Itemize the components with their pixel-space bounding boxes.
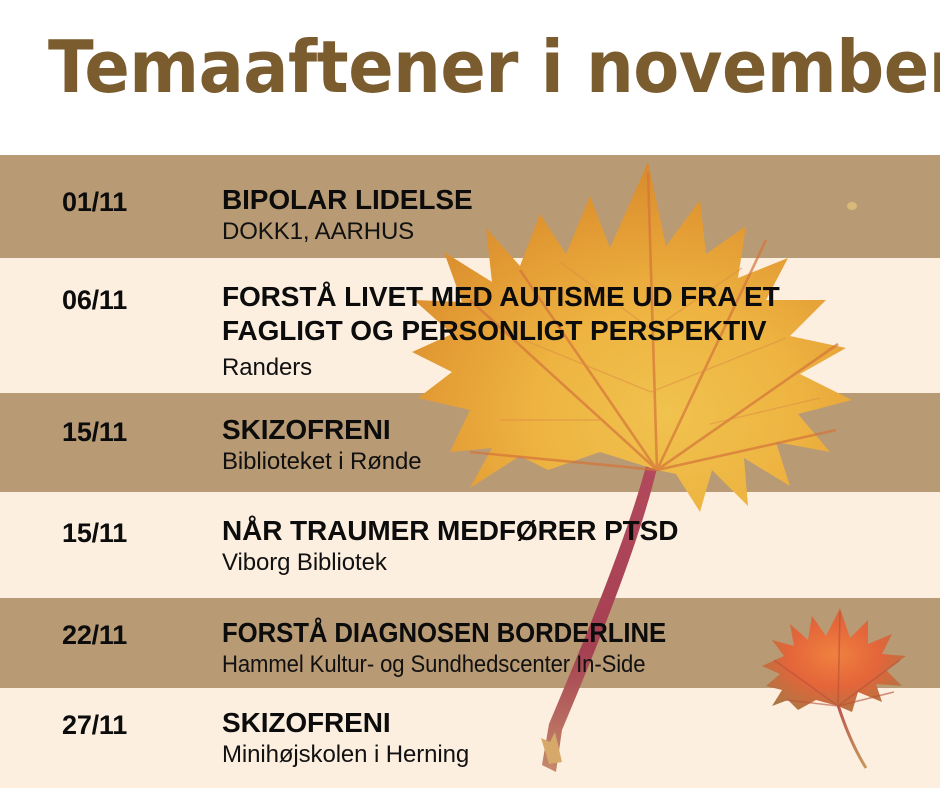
row-venue: Randers bbox=[222, 353, 922, 383]
row-title: FORSTÅ LIVET MED AUTISME UD FRA ET FAGLI… bbox=[222, 280, 922, 348]
row-date: 01/11 bbox=[62, 187, 127, 217]
schedule-row[interactable]: 22/11 FORSTÅ DIAGNOSEN BORDERLINE Hammel… bbox=[0, 598, 940, 688]
row-date: 06/11 bbox=[62, 285, 127, 315]
row-venue: Biblioteket i Rønde bbox=[222, 447, 922, 477]
row-date: 15/11 bbox=[62, 417, 127, 447]
schedule-row[interactable]: 15/11 SKIZOFRENI Biblioteket i Rønde bbox=[0, 393, 940, 492]
row-title: NÅR TRAUMER MEDFØRER PTSD bbox=[222, 514, 922, 548]
poster-canvas: 01/11 BIPOLAR LIDELSE DOKK1, AARHUS 06/1… bbox=[0, 0, 940, 788]
row-venue: Hammel Kultur- og Sundhedscenter In-Side bbox=[222, 650, 866, 680]
row-venue: DOKK1, AARHUS bbox=[222, 217, 922, 247]
row-title: BIPOLAR LIDELSE bbox=[222, 183, 922, 217]
row-body: SKIZOFRENI Biblioteket i Rønde bbox=[222, 413, 922, 477]
schedule-row[interactable]: 15/11 NÅR TRAUMER MEDFØRER PTSD Viborg B… bbox=[0, 492, 940, 598]
title-area: Temaaftener i november bbox=[0, 0, 940, 155]
row-venue: Viborg Bibliotek bbox=[222, 548, 922, 578]
page-title: Temaaftener i november bbox=[48, 26, 940, 108]
row-body: FORSTÅ LIVET MED AUTISME UD FRA ET FAGLI… bbox=[222, 280, 922, 383]
row-body: SKIZOFRENI Minihøjskolen i Herning bbox=[222, 706, 922, 770]
schedule-row[interactable]: 01/11 BIPOLAR LIDELSE DOKK1, AARHUS bbox=[0, 155, 940, 258]
row-venue: Minihøjskolen i Herning bbox=[222, 740, 922, 770]
row-body: FORSTÅ DIAGNOSEN BORDERLINE Hammel Kultu… bbox=[222, 616, 922, 680]
row-date: 15/11 bbox=[62, 518, 127, 548]
schedule-row[interactable]: 06/11 FORSTÅ LIVET MED AUTISME UD FRA ET… bbox=[0, 258, 940, 393]
row-body: NÅR TRAUMER MEDFØRER PTSD Viborg Bibliot… bbox=[222, 514, 922, 578]
row-title: SKIZOFRENI bbox=[222, 706, 922, 740]
row-date: 22/11 bbox=[62, 620, 127, 650]
schedule-row[interactable]: 27/11 SKIZOFRENI Minihøjskolen i Herning bbox=[0, 688, 940, 788]
row-body: BIPOLAR LIDELSE DOKK1, AARHUS bbox=[222, 183, 922, 247]
row-title: SKIZOFRENI bbox=[222, 413, 922, 447]
row-date: 27/11 bbox=[62, 710, 127, 740]
row-title: FORSTÅ DIAGNOSEN BORDERLINE bbox=[222, 616, 866, 650]
